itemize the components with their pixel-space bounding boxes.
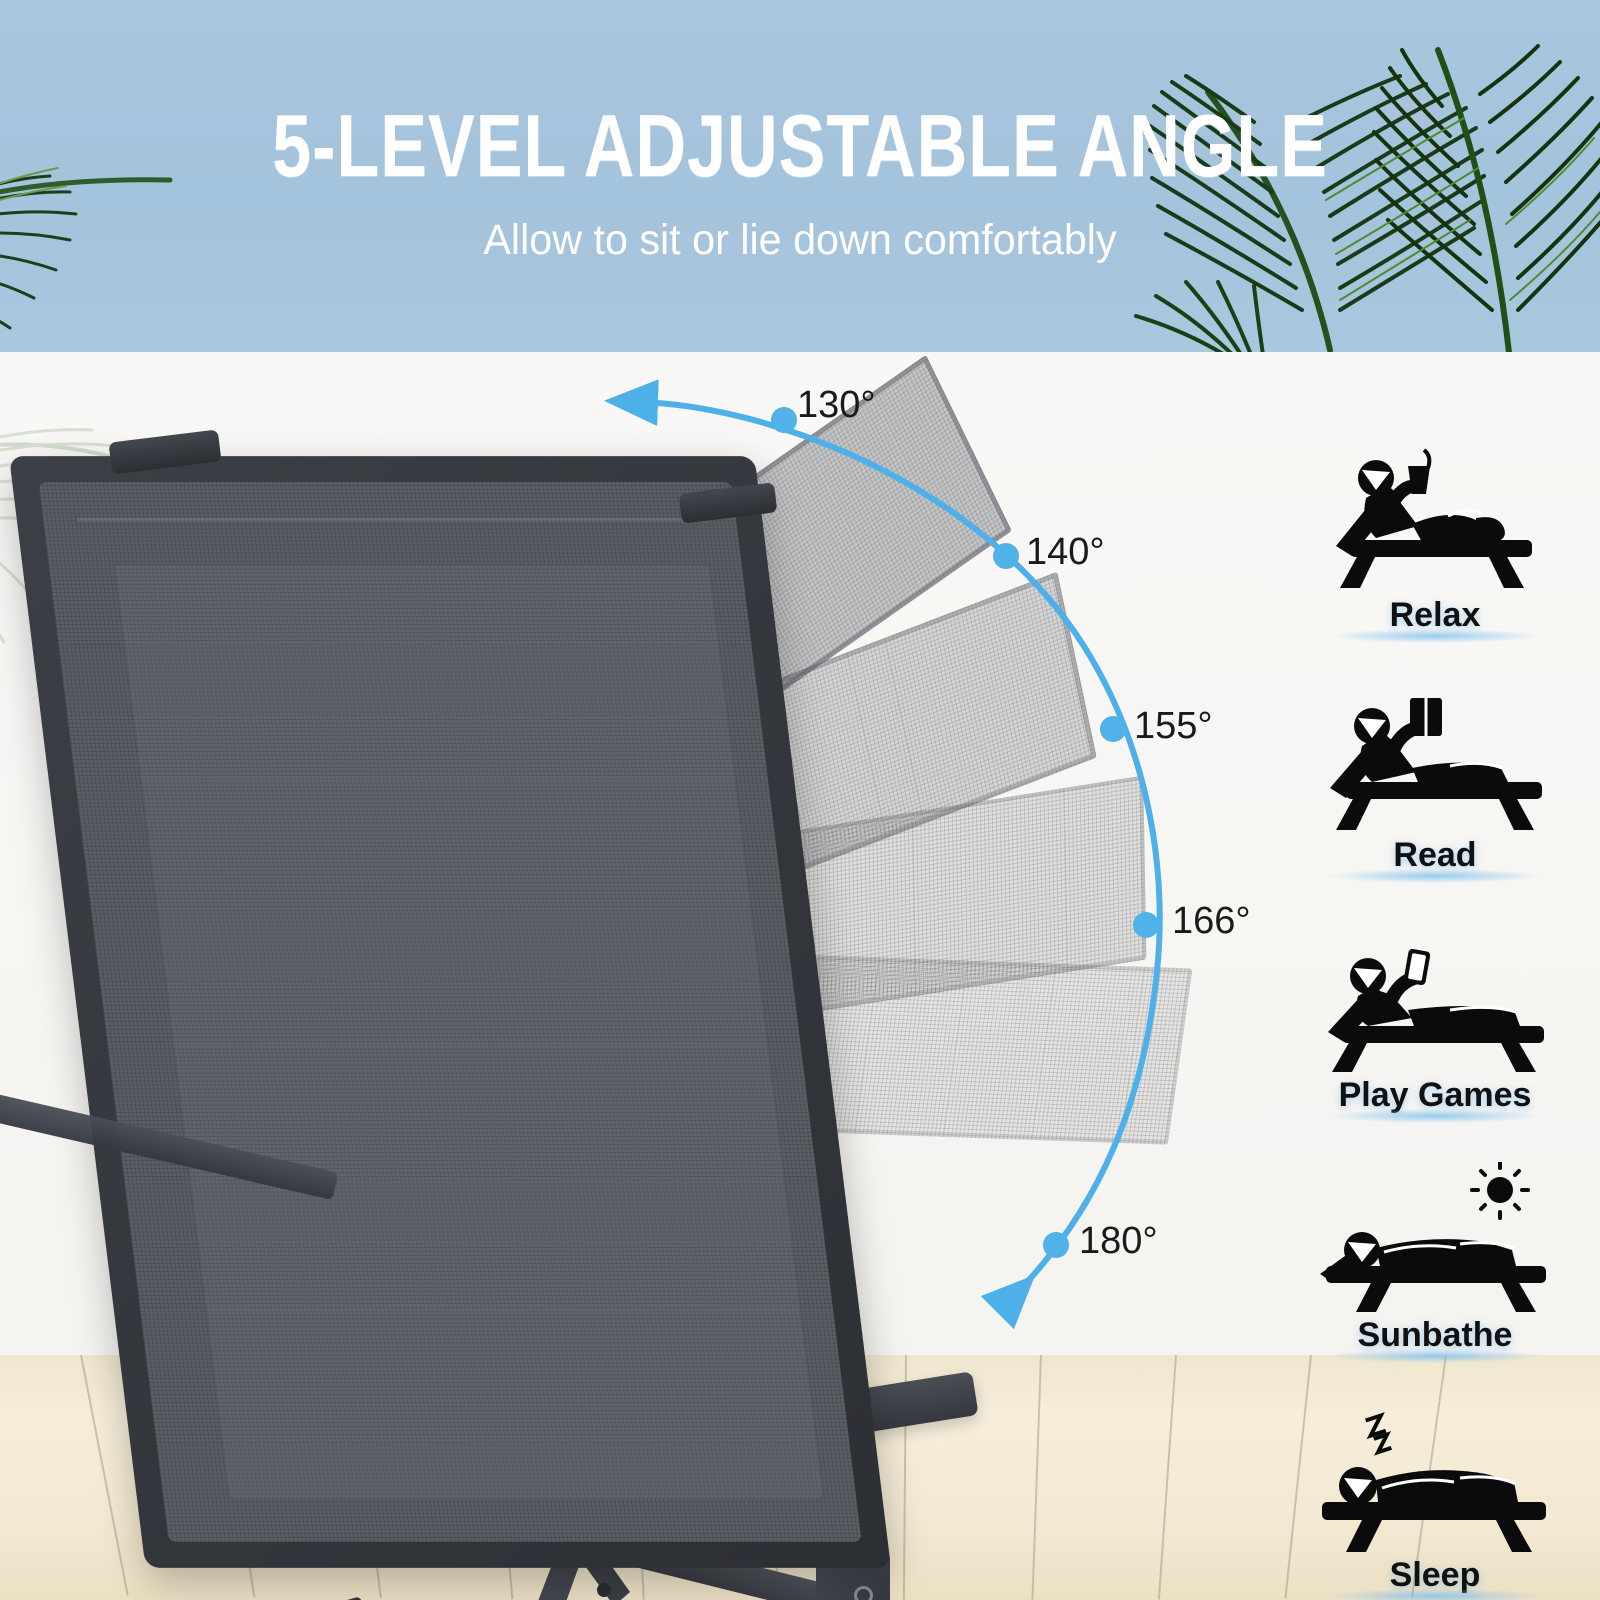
activity-label-play-games: Play Games xyxy=(1270,1076,1600,1115)
angle-label-140: 140° xyxy=(1026,531,1105,574)
label-glow xyxy=(1330,1589,1540,1600)
label-glow xyxy=(1330,869,1540,883)
person-lying-flat-sleeping-zzz-icon xyxy=(1300,1402,1570,1552)
backrest-seam xyxy=(77,518,710,522)
page-subtitle: Allow to sit or lie down comfortably xyxy=(32,216,1568,265)
infographic-root: 5-LEVEL ADJUSTABLE ANGLE Allow to sit or… xyxy=(0,0,1600,1600)
activity-item-sunbathe: Sunbathe xyxy=(1270,1162,1600,1355)
chaise-lounge-chair xyxy=(0,392,960,1600)
chair-leg-rear xyxy=(331,1596,478,1600)
angle-label-130: 130° xyxy=(797,384,876,427)
activity-label-sunbathe: Sunbathe xyxy=(1270,1316,1600,1355)
activity-item-play-games: Play Games xyxy=(1270,922,1600,1115)
angle-label-166: 166° xyxy=(1172,900,1251,943)
activity-label-sleep: Sleep xyxy=(1270,1556,1600,1595)
label-glow xyxy=(1330,1109,1540,1123)
header-banner: 5-LEVEL ADJUSTABLE ANGLE Allow to sit or… xyxy=(0,0,1600,352)
activity-list: Relax xyxy=(1270,352,1600,1600)
angle-label-180: 180° xyxy=(1079,1220,1158,1263)
activity-label-read: Read xyxy=(1270,836,1600,875)
page-title: 5-LEVEL ADJUSTABLE ANGLE xyxy=(160,102,1440,190)
chair-bolt xyxy=(854,1586,873,1600)
person-reclining-with-phone-icon xyxy=(1300,922,1570,1072)
person-reclining-with-drink-icon xyxy=(1300,442,1570,592)
backrest-mesh-inner-panel xyxy=(115,565,822,1498)
person-reclining-with-book-icon xyxy=(1300,682,1570,832)
activity-label-relax: Relax xyxy=(1270,596,1600,635)
activity-item-read: Read xyxy=(1270,682,1600,875)
label-glow xyxy=(1330,629,1540,643)
activity-item-sleep: Sleep xyxy=(1270,1402,1600,1595)
angle-label-155: 155° xyxy=(1134,705,1213,748)
backrest-main-130 xyxy=(9,456,891,1568)
label-glow xyxy=(1330,1349,1540,1363)
activity-item-relax: Relax xyxy=(1270,442,1600,635)
person-lying-flat-with-sun-icon xyxy=(1300,1162,1570,1312)
